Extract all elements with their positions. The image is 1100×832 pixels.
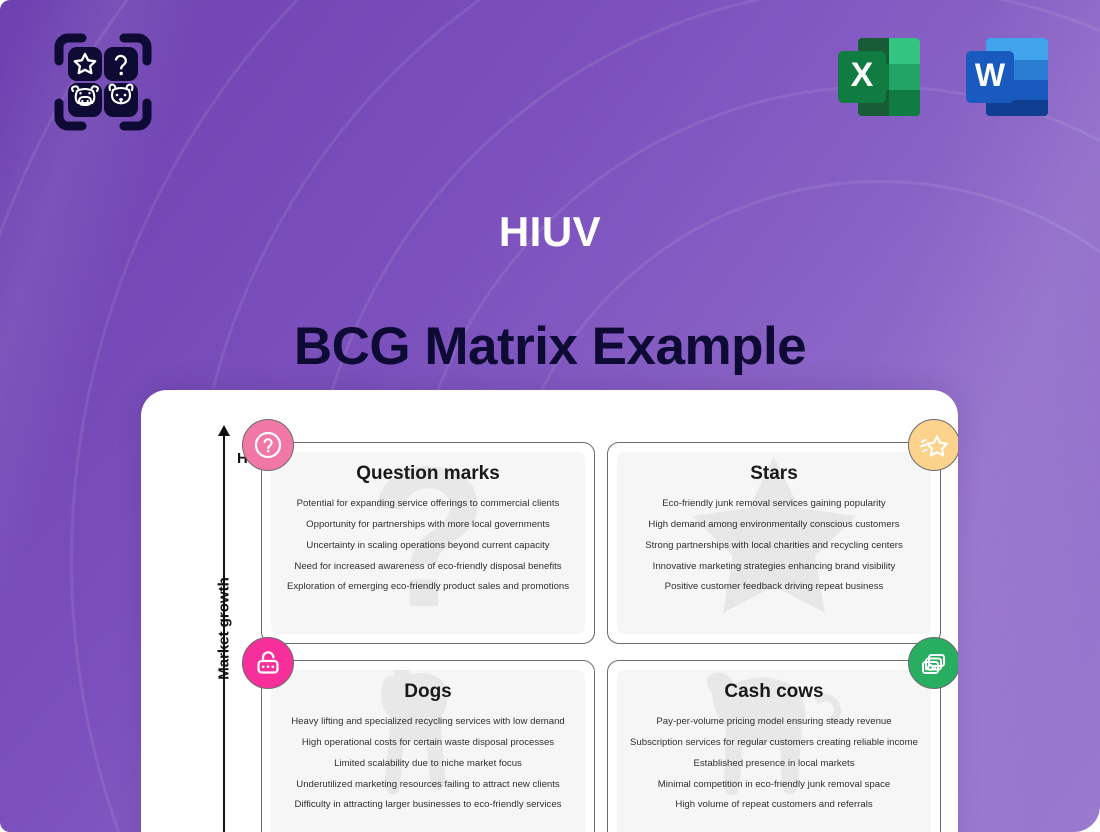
quadrant-grid: ? Question marks Potential for expanding…: [261, 442, 941, 832]
list-item: Potential for expanding service offering…: [271, 494, 585, 515]
svg-text:X: X: [851, 56, 874, 94]
list-item: Need for increased awareness of eco-frie…: [271, 556, 585, 577]
list-item: Positive customer feedback driving repea…: [617, 577, 931, 598]
quadrant-cash-cows[interactable]: Cash cows Pay-per-volume pricing model e…: [607, 660, 941, 832]
bcg-quadrant-scan-logo-icon: [54, 33, 152, 131]
quadrant-title: Cash cows: [724, 681, 823, 703]
list-item: Limited scalability due to niche market …: [271, 754, 585, 775]
list-item: Opportunity for partnerships with more l…: [271, 515, 585, 536]
list-item: Heavy lifting and specialized recycling …: [271, 712, 585, 733]
brand-logo: [54, 33, 152, 131]
quadrant-title: Dogs: [404, 681, 452, 703]
banknotes-icon: [908, 637, 958, 689]
list-item: Innovative marketing strategies enhancin…: [617, 556, 931, 577]
quadrant-item-list: Heavy lifting and specialized recycling …: [271, 712, 585, 816]
star-icon: [908, 419, 958, 471]
axis-vertical-label: Market growth: [216, 554, 233, 704]
list-item: Strong partnerships with local charities…: [617, 536, 931, 557]
quadrant-dogs[interactable]: Dogs Heavy lifting and specialized recyc…: [261, 660, 595, 832]
word-icon[interactable]: W: [958, 28, 1058, 124]
quadrant-item-list: Pay-per-volume pricing model ensuring st…: [617, 712, 931, 816]
list-item: Subscription services for regular custom…: [617, 733, 931, 754]
market-growth-axis: High Market growth: [179, 420, 259, 832]
slide-canvas: X W HIUV BCG Matrix Example: [0, 0, 1100, 832]
list-item: Pay-per-volume pricing model ensuring st…: [617, 712, 931, 733]
quadrant-item-list: Eco-friendly junk removal services gaini…: [617, 494, 931, 598]
list-item: Uncertainty in scaling operations beyond…: [271, 536, 585, 557]
office-icons-group: X W: [830, 28, 1058, 124]
list-item: High volume of repeat customers and refe…: [617, 795, 931, 816]
unlock-padlock-icon: [242, 637, 294, 689]
brand-name: HIUV: [0, 208, 1100, 256]
list-item: Exploration of emerging eco-friendly pro…: [271, 577, 585, 598]
list-item: Difficulty in attracting larger business…: [271, 795, 585, 816]
question-mark-circle-icon: [242, 419, 294, 471]
list-item: Minimal competition in eco-friendly junk…: [617, 774, 931, 795]
quadrant-title: Question marks: [356, 463, 500, 485]
quadrant-item-list: Potential for expanding service offering…: [271, 494, 585, 598]
list-item: Underutilized marketing resources failin…: [271, 774, 585, 795]
list-item: Established presence in local markets: [617, 754, 931, 775]
list-item: Eco-friendly junk removal services gaini…: [617, 494, 931, 515]
svg-text:W: W: [975, 57, 1006, 93]
excel-icon[interactable]: X: [830, 28, 930, 124]
list-item: High demand among environmentally consci…: [617, 515, 931, 536]
quadrant-title: Stars: [750, 463, 798, 485]
list-item: High operational costs for certain waste…: [271, 733, 585, 754]
page-title: BCG Matrix Example: [0, 316, 1100, 377]
quadrant-stars[interactable]: Stars Eco-friendly junk removal services…: [607, 442, 941, 644]
quadrant-question-marks[interactable]: ? Question marks Potential for expanding…: [261, 442, 595, 644]
bcg-matrix-panel: High Market growth ? Question marks: [141, 390, 958, 832]
